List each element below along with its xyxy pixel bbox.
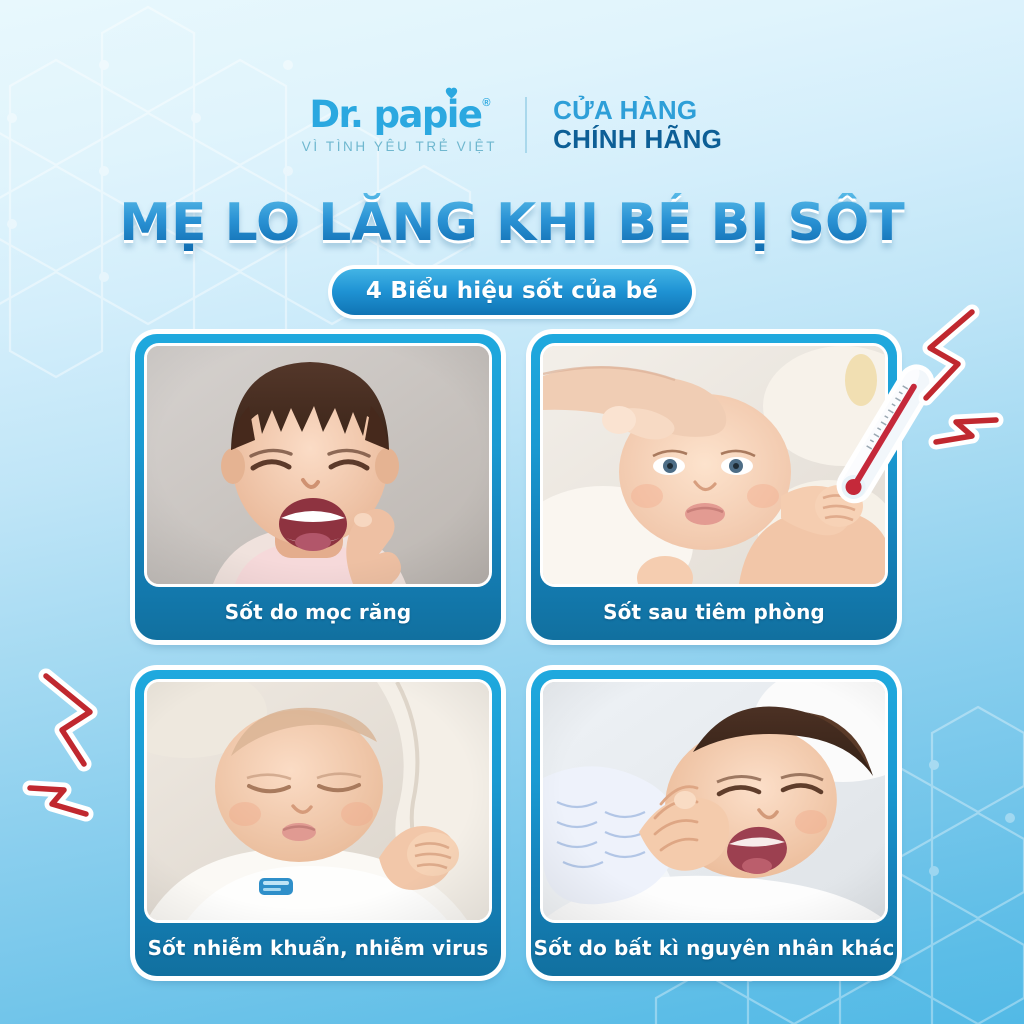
store-line-1: CỬA HÀNG (553, 96, 722, 125)
brand-divider (525, 97, 527, 153)
card-caption: Sốt do bất kì nguyên nhân khác (534, 920, 895, 976)
dr-papie-logo: Dr. papie ® VÌ TÌNH YÊU TRẺ VIỆT (302, 96, 525, 154)
heart-icon (445, 87, 458, 99)
card-caption: Sốt sau tiêm phòng (603, 584, 825, 640)
crying-newborn-photo (543, 682, 885, 920)
logo-tagline: VÌ TÌNH YÊU TRẺ VIỆT (302, 139, 497, 154)
symptom-card-other-causes[interactable]: Sốt do bất kì nguyên nhân khác (531, 670, 897, 976)
subtitle-badge: 4 Biểu hiệu sốt của bé (332, 269, 692, 315)
card-caption: Sốt do mọc răng (225, 584, 412, 640)
symptom-card-infection[interactable]: Sốt nhiễm khuẩn, nhiễm virus (135, 670, 501, 976)
registered-trademark-icon: ® (482, 98, 489, 109)
brand-header: Dr. papie ® VÌ TÌNH YÊU TRẺ VIỆT CỬA HÀN… (0, 96, 1024, 154)
symptom-card-teething[interactable]: Sốt do mọc răng (135, 334, 501, 640)
symptom-card-grid: Sốt do mọc răng (135, 334, 897, 986)
lightning-bolt-icon (900, 302, 1020, 482)
logo-wordmark: Dr. papie ® (309, 96, 489, 133)
crying-toddler-photo (147, 346, 489, 584)
subtitle-badge-wrapper: 4 Biểu hiệu sốt của bé (0, 269, 1024, 315)
store-line-2: CHÍNH HÃNG (553, 125, 722, 154)
baby-forehead-touch-photo (543, 346, 885, 584)
card-caption: Sốt nhiễm khuẩn, nhiễm virus (148, 920, 489, 976)
logo-text: Dr. papie (309, 96, 481, 133)
lightning-bolt-icon (18, 648, 148, 848)
poster-canvas: Dr. papie ® VÌ TÌNH YÊU TRẺ VIỆT CỬA HÀN… (0, 0, 1024, 1024)
symptom-card-vaccination[interactable]: Sốt sau tiêm phòng (531, 334, 897, 640)
page-title: MẸ LO LẮNG KHI BÉ BỊ SỐT (0, 193, 1024, 253)
sleeping-baby-photo (147, 682, 489, 920)
official-store-label: CỬA HÀNG CHÍNH HÃNG (553, 96, 722, 154)
